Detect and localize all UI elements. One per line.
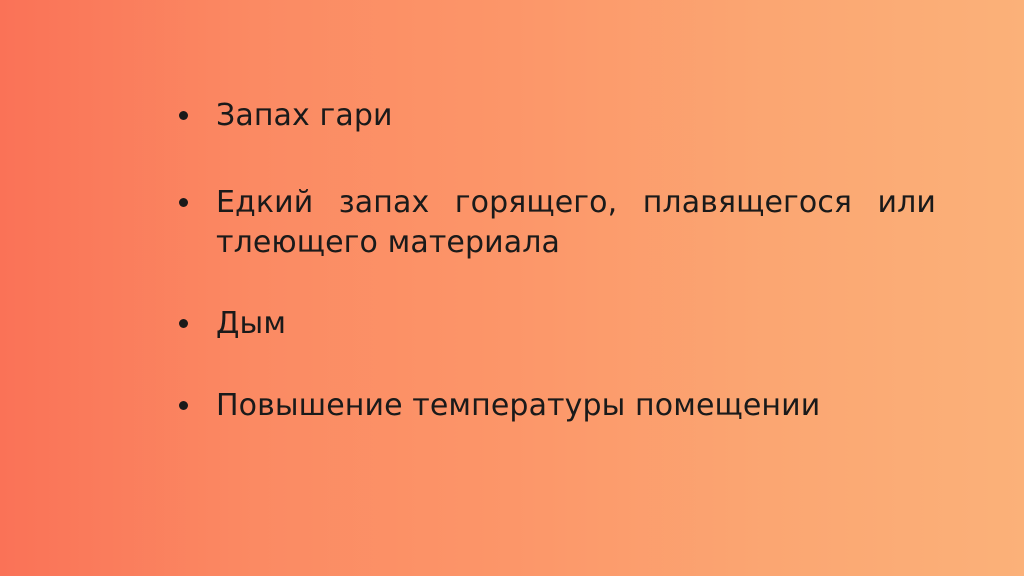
list-item[interactable]: Едкий запах горящего, плавящегося или тл…	[176, 183, 936, 263]
bullet-dot-icon	[179, 198, 188, 207]
bullet-spacer	[176, 263, 936, 304]
list-item-text: Дым	[216, 304, 936, 344]
bullet-dot-icon	[179, 401, 188, 410]
bullet-spacer	[176, 136, 936, 183]
slide-content-placeholder[interactable]: Запах гари Едкий запах горящего, плавяще…	[176, 96, 936, 426]
presentation-slide: Запах гари Едкий запах горящего, плавяще…	[0, 0, 1024, 576]
list-item-text: Повышение температуры помещении	[216, 386, 936, 426]
list-item[interactable]: Дым	[176, 304, 936, 344]
list-item-text: Едкий запах горящего, плавящегося или тл…	[216, 183, 936, 263]
bullet-dot-icon	[179, 319, 188, 328]
bullet-dot-icon	[179, 111, 188, 120]
list-item-text: Запах гари	[216, 96, 936, 136]
bullet-spacer	[176, 344, 936, 386]
list-item[interactable]: Запах гари	[176, 96, 936, 136]
list-item[interactable]: Повышение температуры помещении	[176, 386, 936, 426]
